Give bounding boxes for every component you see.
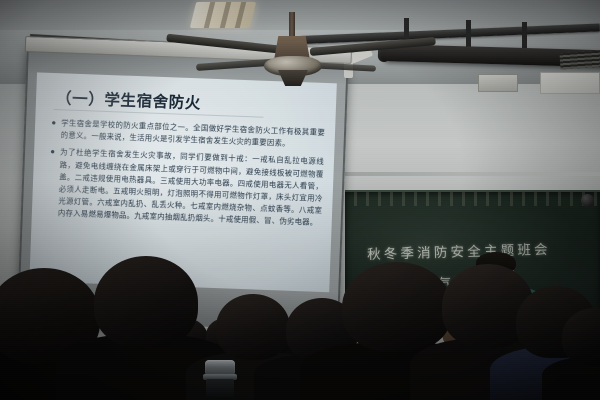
fan-cap	[278, 70, 308, 86]
thermos-bottle	[203, 360, 237, 396]
classroom-photo: 秋冬季消防安全主题班会 电气2104 （一）学生宿舍防火 ● 学生宿舍是学校的防…	[0, 0, 600, 400]
fan-blade-right	[310, 37, 436, 56]
fan-downrod	[289, 12, 295, 38]
thermos-body	[206, 379, 234, 397]
audience-silhouette	[552, 304, 600, 400]
student-head	[94, 256, 198, 348]
foreground-audience	[0, 250, 600, 400]
fan-blade-left	[166, 34, 284, 54]
student-head	[562, 308, 600, 366]
